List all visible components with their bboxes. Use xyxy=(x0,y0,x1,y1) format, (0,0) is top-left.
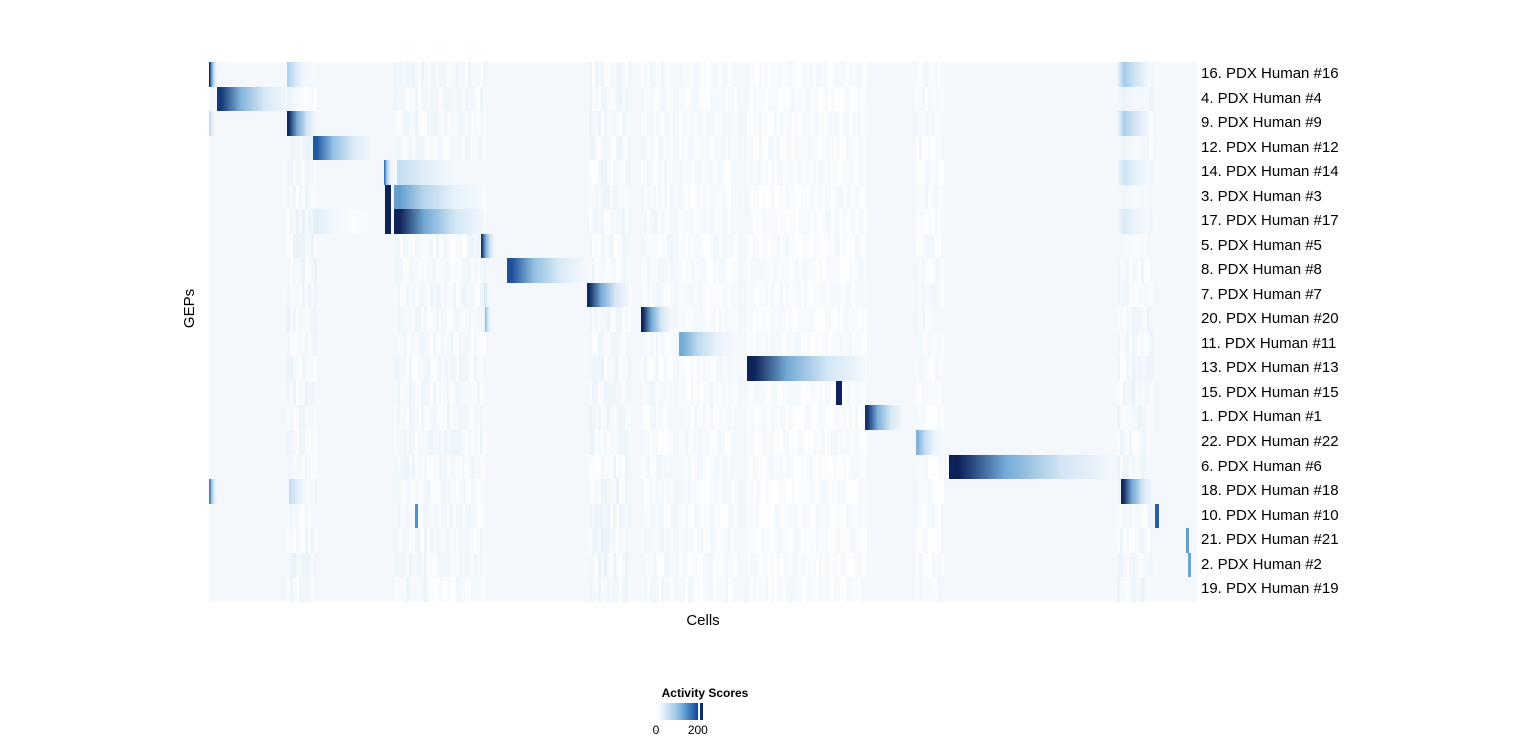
heatmap-column-streak xyxy=(314,185,317,210)
heatmap-column-streak xyxy=(941,209,944,234)
heatmap-activity-block xyxy=(385,209,391,234)
heatmap-activity-block xyxy=(1186,528,1189,553)
heatmap-column-streak xyxy=(670,234,673,259)
heatmap-activity-block xyxy=(1117,111,1149,136)
heatmap-activity-block xyxy=(587,283,629,308)
heatmap-column-streak xyxy=(314,62,317,87)
heatmap-column-streak xyxy=(628,258,631,283)
heatmap-column-streak xyxy=(483,62,486,87)
heatmap-row xyxy=(209,234,1197,259)
figure-root: GEPs Cells 16. PDX Human #164. PDX Human… xyxy=(0,0,1540,743)
heatmap-row-label: 21. PDX Human #21 xyxy=(1201,528,1531,553)
heatmap-row-label: 16. PDX Human #16 xyxy=(1201,62,1531,87)
heatmap-column-streak xyxy=(670,283,673,308)
heatmap-column-streak xyxy=(941,307,944,332)
heatmap-column-streak xyxy=(314,258,317,283)
heatmap-column-streak xyxy=(864,258,867,283)
heatmap-row-label: 10. PDX Human #10 xyxy=(1201,504,1531,529)
heatmap-activity-block xyxy=(641,307,671,332)
heatmap-column-streak xyxy=(483,528,486,553)
heatmap-column-streak xyxy=(628,553,631,578)
heatmap-column-streak xyxy=(941,87,944,112)
heatmap-column-streak xyxy=(670,111,673,136)
heatmap-column-streak xyxy=(670,528,673,553)
heatmap-column-streak xyxy=(734,209,737,234)
heatmap-column-streak xyxy=(628,160,631,185)
heatmap-column-streak xyxy=(864,553,867,578)
heatmap-row xyxy=(209,307,1197,332)
heatmap-row-label: 14. PDX Human #14 xyxy=(1201,160,1531,185)
heatmap-activity-block xyxy=(384,160,392,185)
heatmap-activity-block xyxy=(394,209,484,234)
heatmap-column-streak xyxy=(734,87,737,112)
colorbar-tick-labels: 0200 xyxy=(560,722,850,738)
heatmap-row-label: 20. PDX Human #20 xyxy=(1201,307,1531,332)
heatmap-column-streak xyxy=(864,136,867,161)
heatmap-activity-block xyxy=(1117,185,1149,210)
heatmap-activity-block xyxy=(865,405,903,430)
heatmap-row xyxy=(209,283,1197,308)
colorbar-title: Activity Scores xyxy=(560,686,850,700)
heatmap-column-streak xyxy=(734,381,737,406)
heatmap-column-streak xyxy=(670,356,673,381)
heatmap-column-streak xyxy=(314,430,317,455)
heatmap-column-streak xyxy=(941,160,944,185)
heatmap-row xyxy=(209,405,1197,430)
heatmap-column-streak xyxy=(670,62,673,87)
heatmap-column-streak xyxy=(670,332,673,357)
heatmap-column-streak xyxy=(734,111,737,136)
heatmap-column-streak xyxy=(734,258,737,283)
heatmap-column-streak xyxy=(941,62,944,87)
colorbar-tick-200 xyxy=(698,703,700,720)
heatmap-column-streak xyxy=(734,455,737,480)
heatmap-activity-block xyxy=(415,504,418,529)
heatmap-column-streak xyxy=(314,455,317,480)
heatmap-column-streak xyxy=(314,234,317,259)
heatmap-row xyxy=(209,87,1197,112)
heatmap-column-streak xyxy=(864,504,867,529)
heatmap-column-streak xyxy=(314,405,317,430)
heatmap-column-streak xyxy=(734,307,737,332)
colorbar-legend: Activity Scores 0200 xyxy=(560,686,850,738)
heatmap-column-streak xyxy=(1150,430,1153,455)
heatmap-column-streak xyxy=(1150,577,1153,602)
heatmap-row-label: 17. PDX Human #17 xyxy=(1201,209,1531,234)
heatmap-column-streak xyxy=(628,479,631,504)
heatmap-column-streak xyxy=(941,455,944,480)
heatmap-column-streak xyxy=(314,283,317,308)
heatmap-column-streak xyxy=(734,553,737,578)
heatmap-column-streak xyxy=(670,209,673,234)
heatmap-row-label: 15. PDX Human #15 xyxy=(1201,381,1531,406)
heatmap-plot xyxy=(209,62,1197,602)
heatmap-column-streak xyxy=(1150,332,1153,357)
heatmap-activity-block xyxy=(287,62,313,87)
heatmap-column-streak xyxy=(483,405,486,430)
heatmap-row-labels: 16. PDX Human #164. PDX Human #49. PDX H… xyxy=(1201,62,1531,602)
heatmap-column-streak xyxy=(628,136,631,161)
heatmap-row xyxy=(209,62,1197,87)
heatmap-column-streak xyxy=(1150,504,1153,529)
heatmap-activity-block xyxy=(313,209,373,234)
heatmap-column-streak xyxy=(1150,160,1153,185)
heatmap-activity-block xyxy=(1117,87,1149,112)
heatmap-activity-block xyxy=(836,381,842,406)
heatmap-column-streak xyxy=(628,528,631,553)
heatmap-row-label: 12. PDX Human #12 xyxy=(1201,136,1531,161)
heatmap-activity-block xyxy=(1117,62,1149,87)
heatmap-column-streak xyxy=(734,356,737,381)
colorbar-tick-label: 200 xyxy=(678,723,718,737)
heatmap-row-label: 4. PDX Human #4 xyxy=(1201,87,1531,112)
heatmap-column-streak xyxy=(314,504,317,529)
heatmap-column-streak xyxy=(628,111,631,136)
heatmap-activity-block xyxy=(1155,504,1159,529)
heatmap-column-streak xyxy=(734,430,737,455)
heatmap-column-streak xyxy=(314,160,317,185)
x-axis-label: Cells xyxy=(209,612,1197,629)
heatmap-column-streak xyxy=(1150,553,1153,578)
heatmap-row xyxy=(209,111,1197,136)
heatmap-row-label: 6. PDX Human #6 xyxy=(1201,455,1531,480)
heatmap-activity-block xyxy=(287,111,317,136)
heatmap-row xyxy=(209,430,1197,455)
heatmap-activity-block xyxy=(916,430,942,455)
heatmap-column-streak xyxy=(628,381,631,406)
heatmap-column-streak xyxy=(628,504,631,529)
heatmap-column-streak xyxy=(941,185,944,210)
heatmap-column-streak xyxy=(670,136,673,161)
heatmap-column-streak xyxy=(1150,136,1153,161)
heatmap-column-streak xyxy=(734,577,737,602)
heatmap-column-streak xyxy=(1150,381,1153,406)
heatmap-column-streak xyxy=(628,185,631,210)
heatmap-column-streak xyxy=(483,479,486,504)
heatmap-row-label: 7. PDX Human #7 xyxy=(1201,283,1531,308)
heatmap-column-streak xyxy=(864,185,867,210)
heatmap-column-streak xyxy=(483,332,486,357)
heatmap-column-streak xyxy=(734,160,737,185)
heatmap-activity-block xyxy=(209,111,217,136)
heatmap-column-streak xyxy=(941,577,944,602)
heatmap-column-streak xyxy=(628,405,631,430)
heatmap-activity-block xyxy=(1117,209,1149,234)
heatmap-activity-block xyxy=(385,185,391,210)
heatmap-column-streak xyxy=(314,356,317,381)
heatmap-column-streak xyxy=(941,356,944,381)
heatmap-row-label: 3. PDX Human #3 xyxy=(1201,185,1531,210)
heatmap-row xyxy=(209,528,1197,553)
heatmap-column-streak xyxy=(628,87,631,112)
heatmap-column-streak xyxy=(864,577,867,602)
heatmap-column-streak xyxy=(1150,234,1153,259)
heatmap-column-streak xyxy=(670,553,673,578)
heatmap-column-streak xyxy=(864,455,867,480)
heatmap-row xyxy=(209,455,1197,480)
heatmap-activity-block xyxy=(949,455,1115,480)
heatmap-column-streak xyxy=(314,577,317,602)
heatmap-column-streak xyxy=(670,479,673,504)
heatmap-column-streak xyxy=(864,528,867,553)
heatmap-row-label: 19. PDX Human #19 xyxy=(1201,577,1531,602)
heatmap-column-streak xyxy=(670,405,673,430)
heatmap-row xyxy=(209,504,1197,529)
heatmap-row-label: 22. PDX Human #22 xyxy=(1201,430,1531,455)
heatmap-column-streak xyxy=(670,430,673,455)
heatmap-column-streak xyxy=(941,504,944,529)
heatmap-column-streak xyxy=(1150,356,1153,381)
heatmap-column-streak xyxy=(628,307,631,332)
heatmap-column-streak xyxy=(734,185,737,210)
heatmap-column-streak xyxy=(734,136,737,161)
heatmap-column-streak xyxy=(1150,455,1153,480)
heatmap-row xyxy=(209,381,1197,406)
heatmap-activity-block xyxy=(484,283,492,308)
heatmap-activity-block xyxy=(485,307,492,332)
heatmap-row xyxy=(209,258,1197,283)
heatmap-column-streak xyxy=(670,504,673,529)
heatmap-column-streak xyxy=(734,479,737,504)
heatmap-column-streak xyxy=(864,430,867,455)
heatmap-column-streak xyxy=(628,234,631,259)
heatmap-column-streak xyxy=(1150,258,1153,283)
heatmap-activity-block xyxy=(1188,553,1191,578)
heatmap-column-streak xyxy=(734,283,737,308)
heatmap-row xyxy=(209,185,1197,210)
heatmap-row-label: 8. PDX Human #8 xyxy=(1201,258,1531,283)
heatmap-column-streak xyxy=(483,577,486,602)
heatmap-column-streak xyxy=(483,356,486,381)
heatmap-column-streak xyxy=(1150,62,1153,87)
heatmap-column-streak xyxy=(864,381,867,406)
colorbar-tick-label: 0 xyxy=(636,723,676,737)
heatmap-column-streak xyxy=(483,553,486,578)
heatmap-column-streak xyxy=(670,87,673,112)
heatmap-row-label: 1. PDX Human #1 xyxy=(1201,405,1531,430)
heatmap-column-streak xyxy=(941,528,944,553)
heatmap-column-streak xyxy=(483,185,486,210)
heatmap-activity-block xyxy=(1121,479,1153,504)
heatmap-column-streak xyxy=(628,430,631,455)
heatmap-column-streak xyxy=(864,332,867,357)
heatmap-column-streak xyxy=(670,381,673,406)
heatmap-column-streak xyxy=(941,332,944,357)
heatmap-column-streak xyxy=(628,62,631,87)
heatmap-column-streak xyxy=(941,258,944,283)
heatmap-row-label: 18. PDX Human #18 xyxy=(1201,479,1531,504)
heatmap-activity-block xyxy=(397,160,485,185)
heatmap-column-streak xyxy=(1150,87,1153,112)
heatmap-column-streak xyxy=(864,234,867,259)
heatmap-column-streak xyxy=(670,160,673,185)
heatmap-column-streak xyxy=(314,528,317,553)
heatmap-activity-block xyxy=(313,136,373,161)
heatmap-activity-block xyxy=(481,234,495,259)
heatmap-activity-block xyxy=(1117,234,1149,259)
heatmap-row xyxy=(209,356,1197,381)
heatmap-column-streak xyxy=(628,455,631,480)
heatmap-column-streak xyxy=(670,258,673,283)
heatmap-activity-block xyxy=(747,356,865,381)
heatmap-column-streak xyxy=(941,136,944,161)
heatmap-column-streak xyxy=(864,283,867,308)
heatmap-activity-block xyxy=(1117,160,1149,185)
heatmap-column-streak xyxy=(941,405,944,430)
heatmap-column-streak xyxy=(864,307,867,332)
heatmap-column-streak xyxy=(734,504,737,529)
heatmap-activity-block xyxy=(394,185,482,210)
heatmap-activity-block xyxy=(289,479,315,504)
heatmap-column-streak xyxy=(864,209,867,234)
heatmap-row-label: 11. PDX Human #11 xyxy=(1201,332,1531,357)
heatmap-activity-block xyxy=(287,87,313,112)
heatmap-column-streak xyxy=(314,381,317,406)
heatmap-column-streak xyxy=(864,160,867,185)
heatmap-column-streak xyxy=(1150,283,1153,308)
heatmap-column-streak xyxy=(941,283,944,308)
heatmap-column-streak xyxy=(734,528,737,553)
colorbar-bar-wrap xyxy=(560,703,850,722)
heatmap-row xyxy=(209,577,1197,602)
heatmap-column-streak xyxy=(1150,307,1153,332)
heatmap-row-label: 13. PDX Human #13 xyxy=(1201,356,1531,381)
heatmap-column-streak xyxy=(628,209,631,234)
heatmap-column-streak xyxy=(1150,528,1153,553)
heatmap-row xyxy=(209,136,1197,161)
heatmap-column-streak xyxy=(1150,209,1153,234)
heatmap-column-streak xyxy=(483,381,486,406)
heatmap-row xyxy=(209,209,1197,234)
heatmap-column-streak xyxy=(314,87,317,112)
heatmap-column-streak xyxy=(864,479,867,504)
heatmap-activity-block xyxy=(217,87,287,112)
heatmap-column-streak xyxy=(628,577,631,602)
heatmap-column-streak xyxy=(941,479,944,504)
heatmap-column-streak xyxy=(941,234,944,259)
heatmap-activity-block xyxy=(679,332,735,357)
colorbar-gradient xyxy=(656,703,703,720)
heatmap-row xyxy=(209,332,1197,357)
heatmap-row-label: 2. PDX Human #2 xyxy=(1201,553,1531,578)
heatmap-column-streak xyxy=(864,62,867,87)
heatmap-column-streak xyxy=(1150,111,1153,136)
y-axis-label: GEPs xyxy=(181,289,198,328)
heatmap-activity-block xyxy=(209,479,217,504)
heatmap-column-streak xyxy=(483,504,486,529)
heatmap-column-streak xyxy=(483,455,486,480)
heatmap-column-streak xyxy=(483,258,486,283)
heatmap-column-streak xyxy=(670,185,673,210)
heatmap-column-streak xyxy=(734,405,737,430)
heatmap-column-streak xyxy=(864,111,867,136)
heatmap-column-streak xyxy=(941,553,944,578)
heatmap-row xyxy=(209,479,1197,504)
heatmap-column-streak xyxy=(628,332,631,357)
heatmap-column-streak xyxy=(483,136,486,161)
heatmap-row-label: 5. PDX Human #5 xyxy=(1201,234,1531,259)
heatmap-column-streak xyxy=(483,430,486,455)
heatmap-column-streak xyxy=(670,455,673,480)
heatmap-column-streak xyxy=(483,111,486,136)
heatmap-column-streak xyxy=(1150,405,1153,430)
heatmap-activity-block xyxy=(209,62,217,87)
heatmap-column-streak xyxy=(483,87,486,112)
heatmap-column-streak xyxy=(734,234,737,259)
heatmap-row xyxy=(209,160,1197,185)
heatmap-column-streak xyxy=(734,62,737,87)
heatmap-column-streak xyxy=(864,87,867,112)
heatmap-column-streak xyxy=(314,332,317,357)
heatmap-column-streak xyxy=(941,381,944,406)
heatmap-column-streak xyxy=(314,307,317,332)
heatmap-activity-block xyxy=(507,258,585,283)
heatmap-row-label: 9. PDX Human #9 xyxy=(1201,111,1531,136)
heatmap-column-streak xyxy=(1150,185,1153,210)
heatmap-column-streak xyxy=(628,356,631,381)
heatmap-column-streak xyxy=(941,111,944,136)
heatmap-column-streak xyxy=(314,553,317,578)
heatmap-row xyxy=(209,553,1197,578)
heatmap-activity-block xyxy=(1117,136,1149,161)
heatmap-column-streak xyxy=(670,577,673,602)
